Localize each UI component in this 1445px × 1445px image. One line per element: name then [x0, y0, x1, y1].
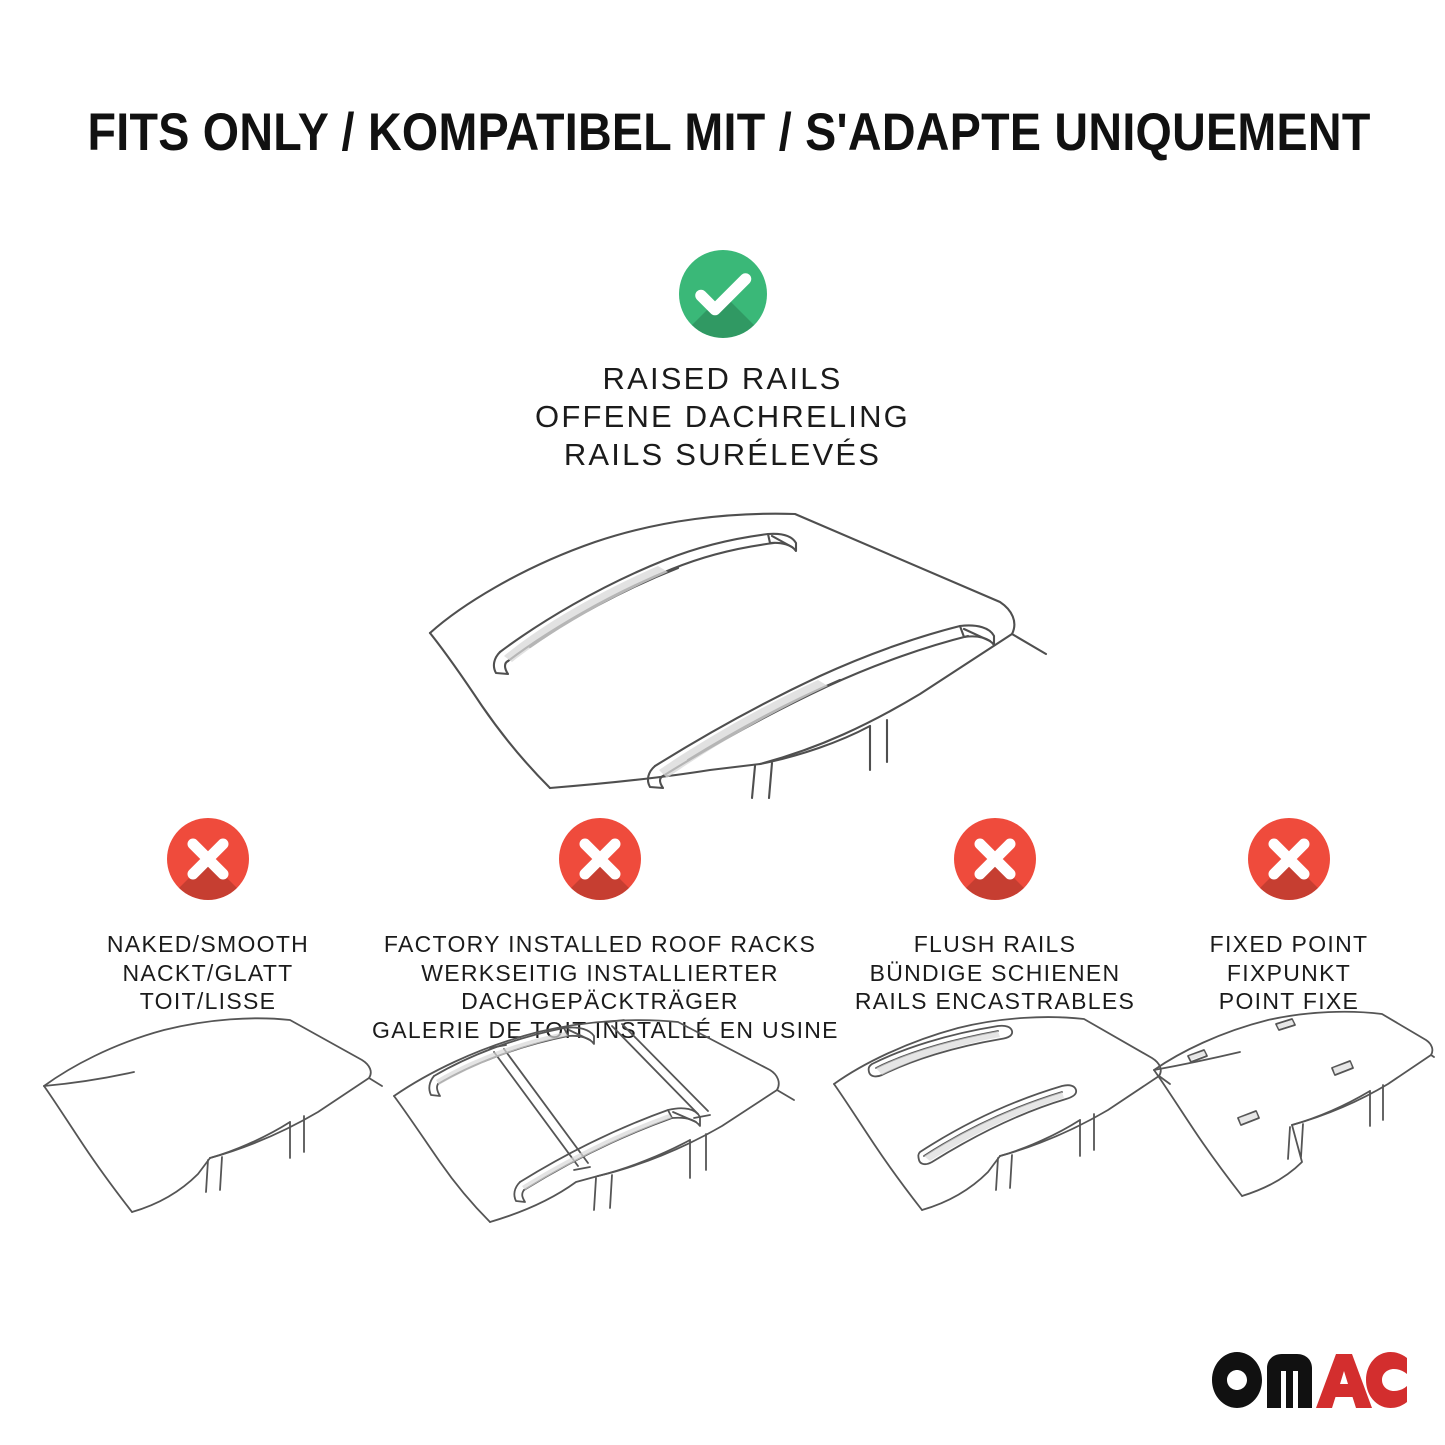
incompatible-item-factory-racks: FACTORY INSTALLED ROOF RACKS WERKSEITIG …: [372, 818, 828, 1044]
item-label: NAKED/SMOOTH NACKT/GLATT TOIT/LISSE: [32, 930, 384, 1016]
incompatible-item-naked-smooth: NAKED/SMOOTH NACKT/GLATT TOIT/LISSE: [32, 818, 384, 1016]
omac-logo: [1212, 1352, 1407, 1408]
cross-mark-glyph: [559, 818, 641, 900]
item-label-line-en: NAKED/SMOOTH: [32, 930, 384, 959]
logo-letter-a: [1316, 1354, 1372, 1408]
car-roof-factory-racks-illustration: [372, 1004, 828, 1219]
item-label-line-de: FIXPUNKT: [1158, 959, 1420, 988]
incompatible-section: NAKED/SMOOTH NACKT/GLATT TOIT/LISSE: [0, 818, 1445, 1238]
car-roof-naked-smooth-illustration: [32, 1004, 384, 1219]
compatible-label-line-fr: RAILS SURÉLEVÉS: [0, 436, 1445, 474]
compatible-section: RAISED RAILS OFFENE DACHRELING RAILS SUR…: [0, 250, 1445, 474]
compatible-label-line-en: RAISED RAILS: [0, 360, 1445, 398]
check-circle-icon: [679, 250, 767, 338]
compatible-label-line-de: OFFENE DACHRELING: [0, 398, 1445, 436]
logo-letter-m: [1267, 1354, 1312, 1408]
logo-letter-c: [1366, 1352, 1407, 1408]
item-label-line-de: NACKT/GLATT: [32, 959, 384, 988]
cross-circle-icon: [559, 818, 641, 900]
cross-mark-glyph: [1248, 818, 1330, 900]
incompatible-item-flush-rails: FLUSH RAILS BÜNDIGE SCHIENEN RAILS ENCAS…: [820, 818, 1170, 1016]
item-label-line-de: BÜNDIGE SCHIENEN: [820, 959, 1170, 988]
incompatible-item-fixed-point: FIXED POINT FIXPUNKT POINT FIXE: [1158, 818, 1420, 1016]
cross-circle-icon: [1248, 818, 1330, 900]
cross-mark-glyph: [954, 818, 1036, 900]
cross-circle-icon: [167, 818, 249, 900]
item-label-line-en: FACTORY INSTALLED ROOF RACKS: [372, 930, 828, 959]
car-roof-flush-rails-illustration: [820, 1004, 1170, 1219]
compatible-label: RAISED RAILS OFFENE DACHRELING RAILS SUR…: [0, 360, 1445, 474]
logo-letter-o: [1212, 1352, 1262, 1408]
item-label-line-de-1: WERKSEITIG INSTALLIERTER: [372, 959, 828, 988]
check-mark-glyph: [679, 250, 767, 338]
header: FITS ONLY / KOMPATIBEL MIT / S'ADAPTE UN…: [0, 103, 1445, 163]
item-label-line-en: FLUSH RAILS: [820, 930, 1170, 959]
item-label: FLUSH RAILS BÜNDIGE SCHIENEN RAILS ENCAS…: [820, 930, 1170, 1016]
item-label: FIXED POINT FIXPUNKT POINT FIXE: [1158, 930, 1420, 1016]
item-label-line-en: FIXED POINT: [1158, 930, 1420, 959]
page-title: FITS ONLY / KOMPATIBEL MIT / S'ADAPTE UN…: [87, 103, 1370, 163]
cross-mark-glyph: [167, 818, 249, 900]
car-roof-raised-rails-illustration: [400, 498, 1060, 798]
cross-circle-icon: [954, 818, 1036, 900]
car-roof-fixed-point-illustration: [1144, 1004, 1434, 1219]
